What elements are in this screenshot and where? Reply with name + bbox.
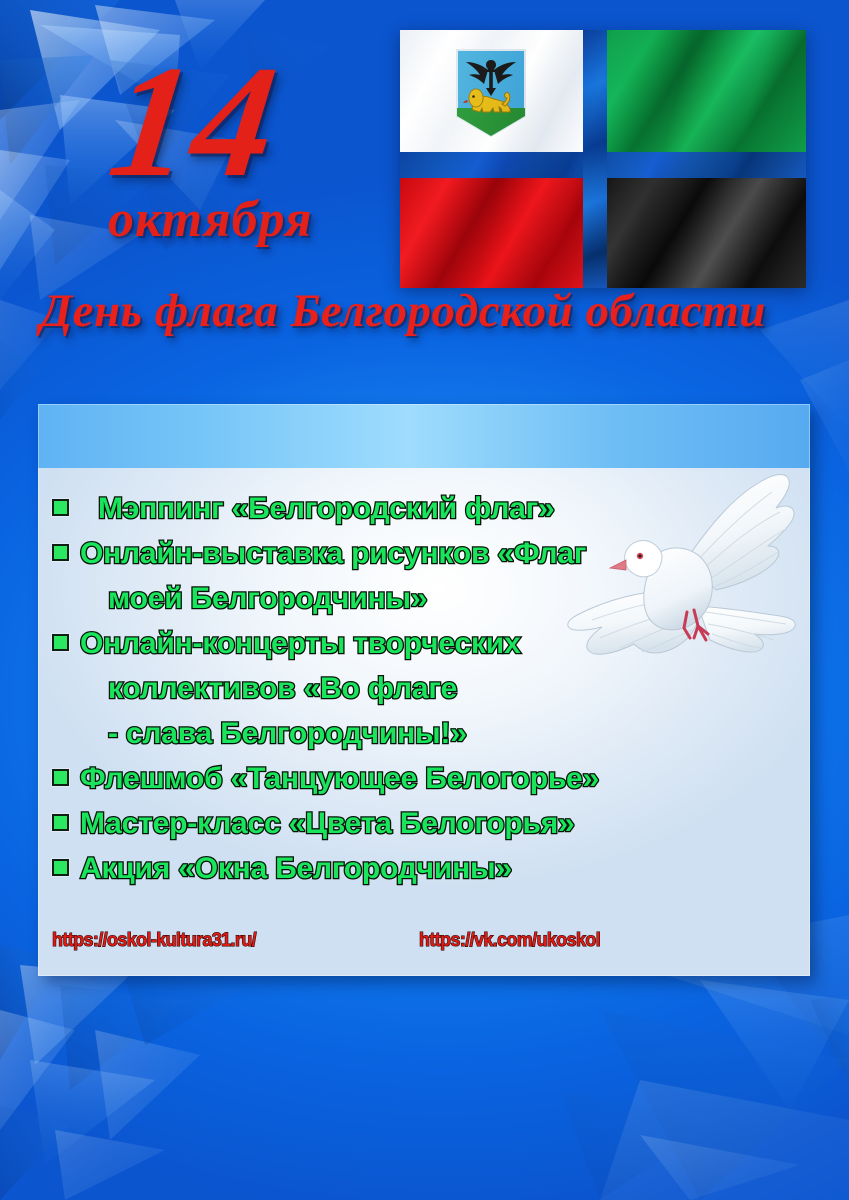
site-link[interactable]: https://oskol-kultura31.ru/ xyxy=(52,930,256,952)
list-item-label: Онлайн-концерты творческих xyxy=(80,621,521,666)
flag-quadrant-red xyxy=(400,178,583,288)
links-row: https://oskol-kultura31.ru/ https://vk.c… xyxy=(52,930,772,952)
panel-top-band xyxy=(38,404,810,468)
list-item-label: коллективов «Во флаге xyxy=(108,666,457,711)
square-bullet-icon xyxy=(52,814,69,831)
coat-of-arms-icon xyxy=(455,48,527,138)
flag-quadrant-white xyxy=(400,30,583,152)
list-item: моей Белгородчины» xyxy=(52,576,752,621)
list-item-label: Мастер-класс «Цвета Белогорья» xyxy=(80,801,575,846)
square-bullet-icon xyxy=(52,634,69,651)
belgorod-oblast-flag xyxy=(400,30,806,288)
square-bullet-icon xyxy=(52,859,69,876)
square-bullet-icon xyxy=(52,544,69,561)
vk-link[interactable]: https://vk.com/ukoskol xyxy=(419,930,600,952)
list-item-label: Акция «Окна Белгородчины» xyxy=(80,846,512,891)
list-item-label: Флешмоб «Танцующее Белогорье» xyxy=(80,756,599,801)
list-item: - слава Белгородчины!» xyxy=(52,711,752,756)
list-item: Онлайн-концерты творческих xyxy=(52,621,752,666)
flag-quadrant-black xyxy=(607,178,806,288)
flag-cross-vertical xyxy=(583,30,607,288)
list-item: коллективов «Во флаге xyxy=(52,666,752,711)
date-number: 14 xyxy=(103,48,285,195)
flag-quadrant-green xyxy=(607,30,806,152)
list-item: Мастер-класс «Цвета Белогорья» xyxy=(52,801,752,846)
events-list: Мэппинг «Белгородский флаг»Онлайн-выстав… xyxy=(52,486,752,891)
list-item-label: Онлайн-выставка рисунков «Флаг xyxy=(80,531,586,576)
page-title: День флага Белгородской области xyxy=(40,284,830,338)
list-item: Акция «Окна Белгородчины» xyxy=(52,846,752,891)
list-item: Онлайн-выставка рисунков «Флаг xyxy=(52,531,752,576)
flag-silk xyxy=(400,30,806,288)
poster: 14 октября xyxy=(0,0,849,1200)
square-bullet-icon xyxy=(52,499,69,516)
list-item: Мэппинг «Белгородский флаг» xyxy=(52,486,752,531)
list-item-label: моей Белгородчины» xyxy=(108,576,427,621)
square-bullet-icon xyxy=(52,769,69,786)
list-item: Флешмоб «Танцующее Белогорье» xyxy=(52,756,752,801)
list-item-label: - слава Белгородчины!» xyxy=(108,711,467,756)
date-month: октября xyxy=(108,190,313,249)
list-item-label: Мэппинг «Белгородский флаг» xyxy=(80,486,554,531)
